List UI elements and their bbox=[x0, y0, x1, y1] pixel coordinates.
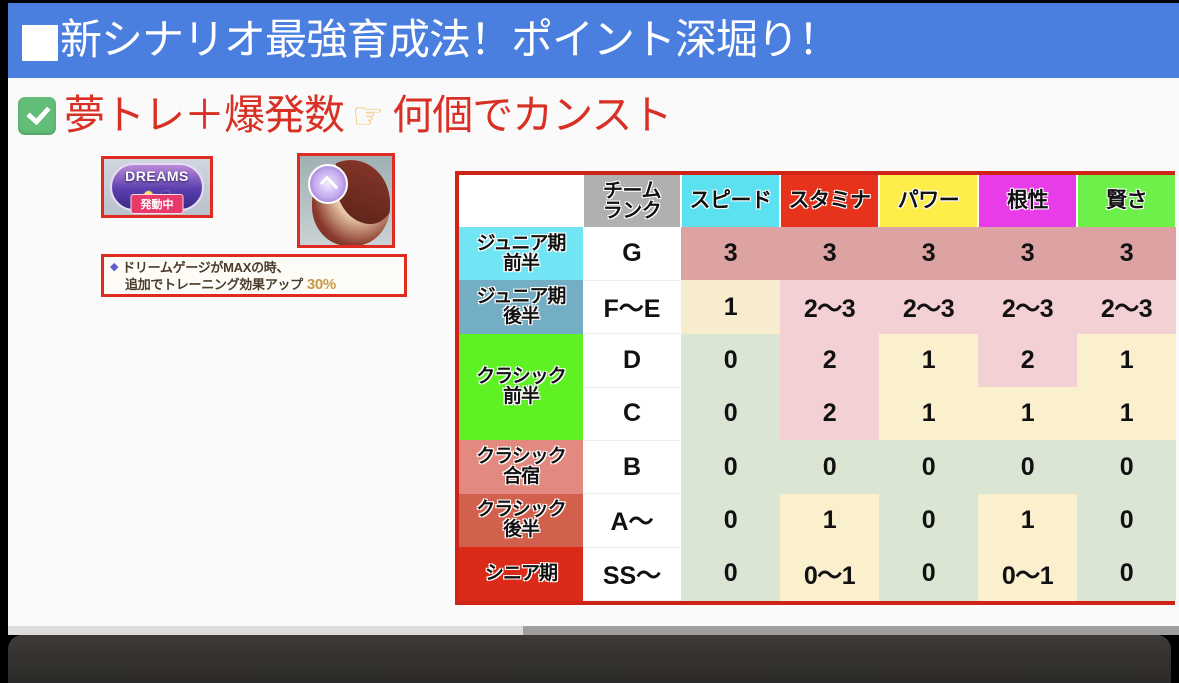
green-checkbox-icon bbox=[18, 97, 56, 135]
cell-speed: 1 bbox=[681, 280, 780, 333]
phase-line1: クラシック bbox=[476, 446, 566, 467]
subheading-text-after: 何個でカンスト bbox=[392, 95, 671, 136]
cell-guts: 0 bbox=[978, 440, 1077, 493]
table-row: クラシック前半D02121 bbox=[459, 334, 1176, 387]
caption-line-2-text: 追加でトレーニング効果アップ bbox=[125, 276, 303, 293]
header-phase bbox=[459, 175, 583, 227]
row-phase-label: クラシック前半 bbox=[459, 334, 583, 441]
screen-root: 新シナリオ最強育成法！ポイント深堀り！ 夢トレ＋爆発数 ☞ 何個でカンスト DR… bbox=[0, 0, 1179, 683]
cell-speed: 0 bbox=[681, 494, 780, 547]
cell-wisdom: 3 bbox=[1077, 227, 1176, 280]
cell-stamina: 0 bbox=[780, 440, 879, 493]
row-team-rank: C bbox=[583, 387, 681, 440]
training-up-arrow-icon bbox=[308, 164, 348, 204]
cell-stamina: 0～1 bbox=[780, 547, 879, 600]
dreams-effect-caption: ◆ ドリームゲージがMAXの時、 追加でトレーニング効果アップ 30% bbox=[101, 254, 407, 297]
phase-line2: 前半 bbox=[503, 253, 539, 274]
table-row: ジュニア期後半F～E12～32～32～32～3 bbox=[459, 280, 1176, 333]
cell-guts: 3 bbox=[978, 227, 1077, 280]
row-phase-label: ジュニア期後半 bbox=[459, 280, 583, 333]
cell-stamina: 2～3 bbox=[780, 280, 879, 333]
cell-speed: 0 bbox=[681, 547, 780, 600]
table-row: シニア期SS～00～100～10 bbox=[459, 547, 1176, 600]
cell-wisdom: 1 bbox=[1077, 334, 1176, 387]
phase-line2: 後半 bbox=[503, 519, 539, 540]
header-team-rank-line2: ランク bbox=[603, 200, 662, 222]
row-phase-label: クラシック後半 bbox=[459, 494, 583, 547]
filled-square-icon bbox=[22, 25, 58, 61]
table-row: クラシック後半A～01010 bbox=[459, 494, 1176, 547]
row-phase-label: クラシック合宿 bbox=[459, 440, 583, 493]
caption-line-1-text: ドリームゲージがMAXの時、 bbox=[122, 259, 289, 276]
header-speed: スピード bbox=[681, 175, 780, 227]
training-counts-table: チーム ランク スピード スタミナ パワー 根性 賢さ ジュニア期前半G3333… bbox=[455, 171, 1175, 605]
table-element: チーム ランク スピード スタミナ パワー 根性 賢さ ジュニア期前半G3333… bbox=[459, 175, 1177, 601]
cell-power: 1 bbox=[879, 334, 978, 387]
caption-line-1: ◆ ドリームゲージがMAXの時、 bbox=[110, 259, 400, 276]
cell-power: 3 bbox=[879, 227, 978, 280]
cell-speed: 3 bbox=[681, 227, 780, 280]
horizontal-scrollbar-thumb[interactable] bbox=[8, 626, 523, 635]
header-team-rank-line1: チーム bbox=[603, 180, 661, 202]
cell-guts: 0～1 bbox=[978, 547, 1077, 600]
header-team-rank: チーム ランク bbox=[583, 175, 681, 227]
left-screenshot-cluster: DREAMS 発動中 ◆ ドリームゲージがMAXの時、 bbox=[101, 153, 411, 308]
cell-speed: 0 bbox=[681, 440, 780, 493]
cell-wisdom: 0 bbox=[1077, 440, 1176, 493]
dreams-status-badge: 発動中 bbox=[131, 194, 184, 214]
cell-stamina: 1 bbox=[780, 494, 879, 547]
cell-speed: 0 bbox=[681, 334, 780, 387]
cell-wisdom: 0 bbox=[1077, 547, 1176, 600]
cell-power: 0 bbox=[879, 440, 978, 493]
subheading-text-before: 夢トレ＋爆発数 bbox=[64, 95, 344, 136]
header-wisdom: 賢さ bbox=[1077, 175, 1176, 227]
cell-wisdom: 2～3 bbox=[1077, 280, 1176, 333]
cell-power: 0 bbox=[879, 547, 978, 600]
cell-speed: 0 bbox=[681, 387, 780, 440]
cell-wisdom: 0 bbox=[1077, 494, 1176, 547]
page-content: 新シナリオ最強育成法！ポイント深堀り！ 夢トレ＋爆発数 ☞ 何個でカンスト DR… bbox=[8, 3, 1179, 635]
pointing-right-hand-icon: ☞ bbox=[352, 98, 384, 134]
phase-line1: クラシック bbox=[476, 499, 566, 520]
cell-wisdom: 1 bbox=[1077, 387, 1176, 440]
cell-guts: 1 bbox=[978, 494, 1077, 547]
cell-stamina: 2 bbox=[780, 334, 879, 387]
row-phase-label: ジュニア期前半 bbox=[459, 227, 583, 280]
cell-guts: 2～3 bbox=[978, 280, 1077, 333]
caption-line-2: 追加でトレーニング効果アップ 30% bbox=[110, 276, 400, 293]
row-team-rank: D bbox=[583, 334, 681, 387]
phase-line2: 後半 bbox=[503, 306, 539, 327]
row-team-rank: SS～ bbox=[583, 547, 681, 600]
table-row: ジュニア期前半G33333 bbox=[459, 227, 1176, 280]
dreams-label: DREAMS bbox=[112, 168, 202, 184]
row-team-rank: B bbox=[583, 440, 681, 493]
phase-line1: ジュニア期 bbox=[477, 286, 566, 307]
cell-power: 1 bbox=[879, 387, 978, 440]
table-row: クラシック合宿B00000 bbox=[459, 440, 1176, 493]
phase-line2: 前半 bbox=[503, 386, 539, 407]
character-screenshot bbox=[297, 153, 395, 248]
header-guts: 根性 bbox=[978, 175, 1077, 227]
page-title: 新シナリオ最強育成法！ポイント深堀り！ bbox=[60, 19, 839, 63]
page-banner: 新シナリオ最強育成法！ポイント深堀り！ bbox=[8, 3, 1179, 78]
device-bottom-bar bbox=[8, 635, 1171, 683]
phase-line2: 合宿 bbox=[503, 466, 539, 487]
cell-stamina: 2 bbox=[780, 387, 879, 440]
horizontal-scrollbar-track[interactable] bbox=[8, 626, 1179, 635]
dreams-gauge-screenshot: DREAMS 発動中 bbox=[101, 156, 213, 218]
table-header-row: チーム ランク スピード スタミナ パワー 根性 賢さ bbox=[459, 175, 1176, 227]
caption-percent-value: 30% bbox=[307, 276, 336, 293]
subheading-row: 夢トレ＋爆発数 ☞ 何個でカンスト bbox=[18, 95, 671, 136]
header-stamina: スタミナ bbox=[780, 175, 879, 227]
table-head: チーム ランク スピード スタミナ パワー 根性 賢さ bbox=[459, 175, 1176, 227]
row-phase-label: シニア期 bbox=[459, 547, 583, 600]
row-team-rank: G bbox=[583, 227, 681, 280]
cell-stamina: 3 bbox=[780, 227, 879, 280]
phase-line1: シニア期 bbox=[485, 563, 557, 584]
row-team-rank: A～ bbox=[583, 494, 681, 547]
table-body: ジュニア期前半G33333ジュニア期後半F～E12～32～32～32～3クラシッ… bbox=[459, 227, 1176, 601]
cell-power: 2～3 bbox=[879, 280, 978, 333]
diamond-bullet-icon: ◆ bbox=[110, 259, 118, 276]
phase-line1: ジュニア期 bbox=[477, 233, 566, 254]
phase-line1: クラシック bbox=[476, 366, 566, 387]
row-team-rank: F～E bbox=[583, 280, 681, 333]
cell-power: 0 bbox=[879, 494, 978, 547]
cell-guts: 2 bbox=[978, 334, 1077, 387]
header-power: パワー bbox=[879, 175, 978, 227]
cell-guts: 1 bbox=[978, 387, 1077, 440]
